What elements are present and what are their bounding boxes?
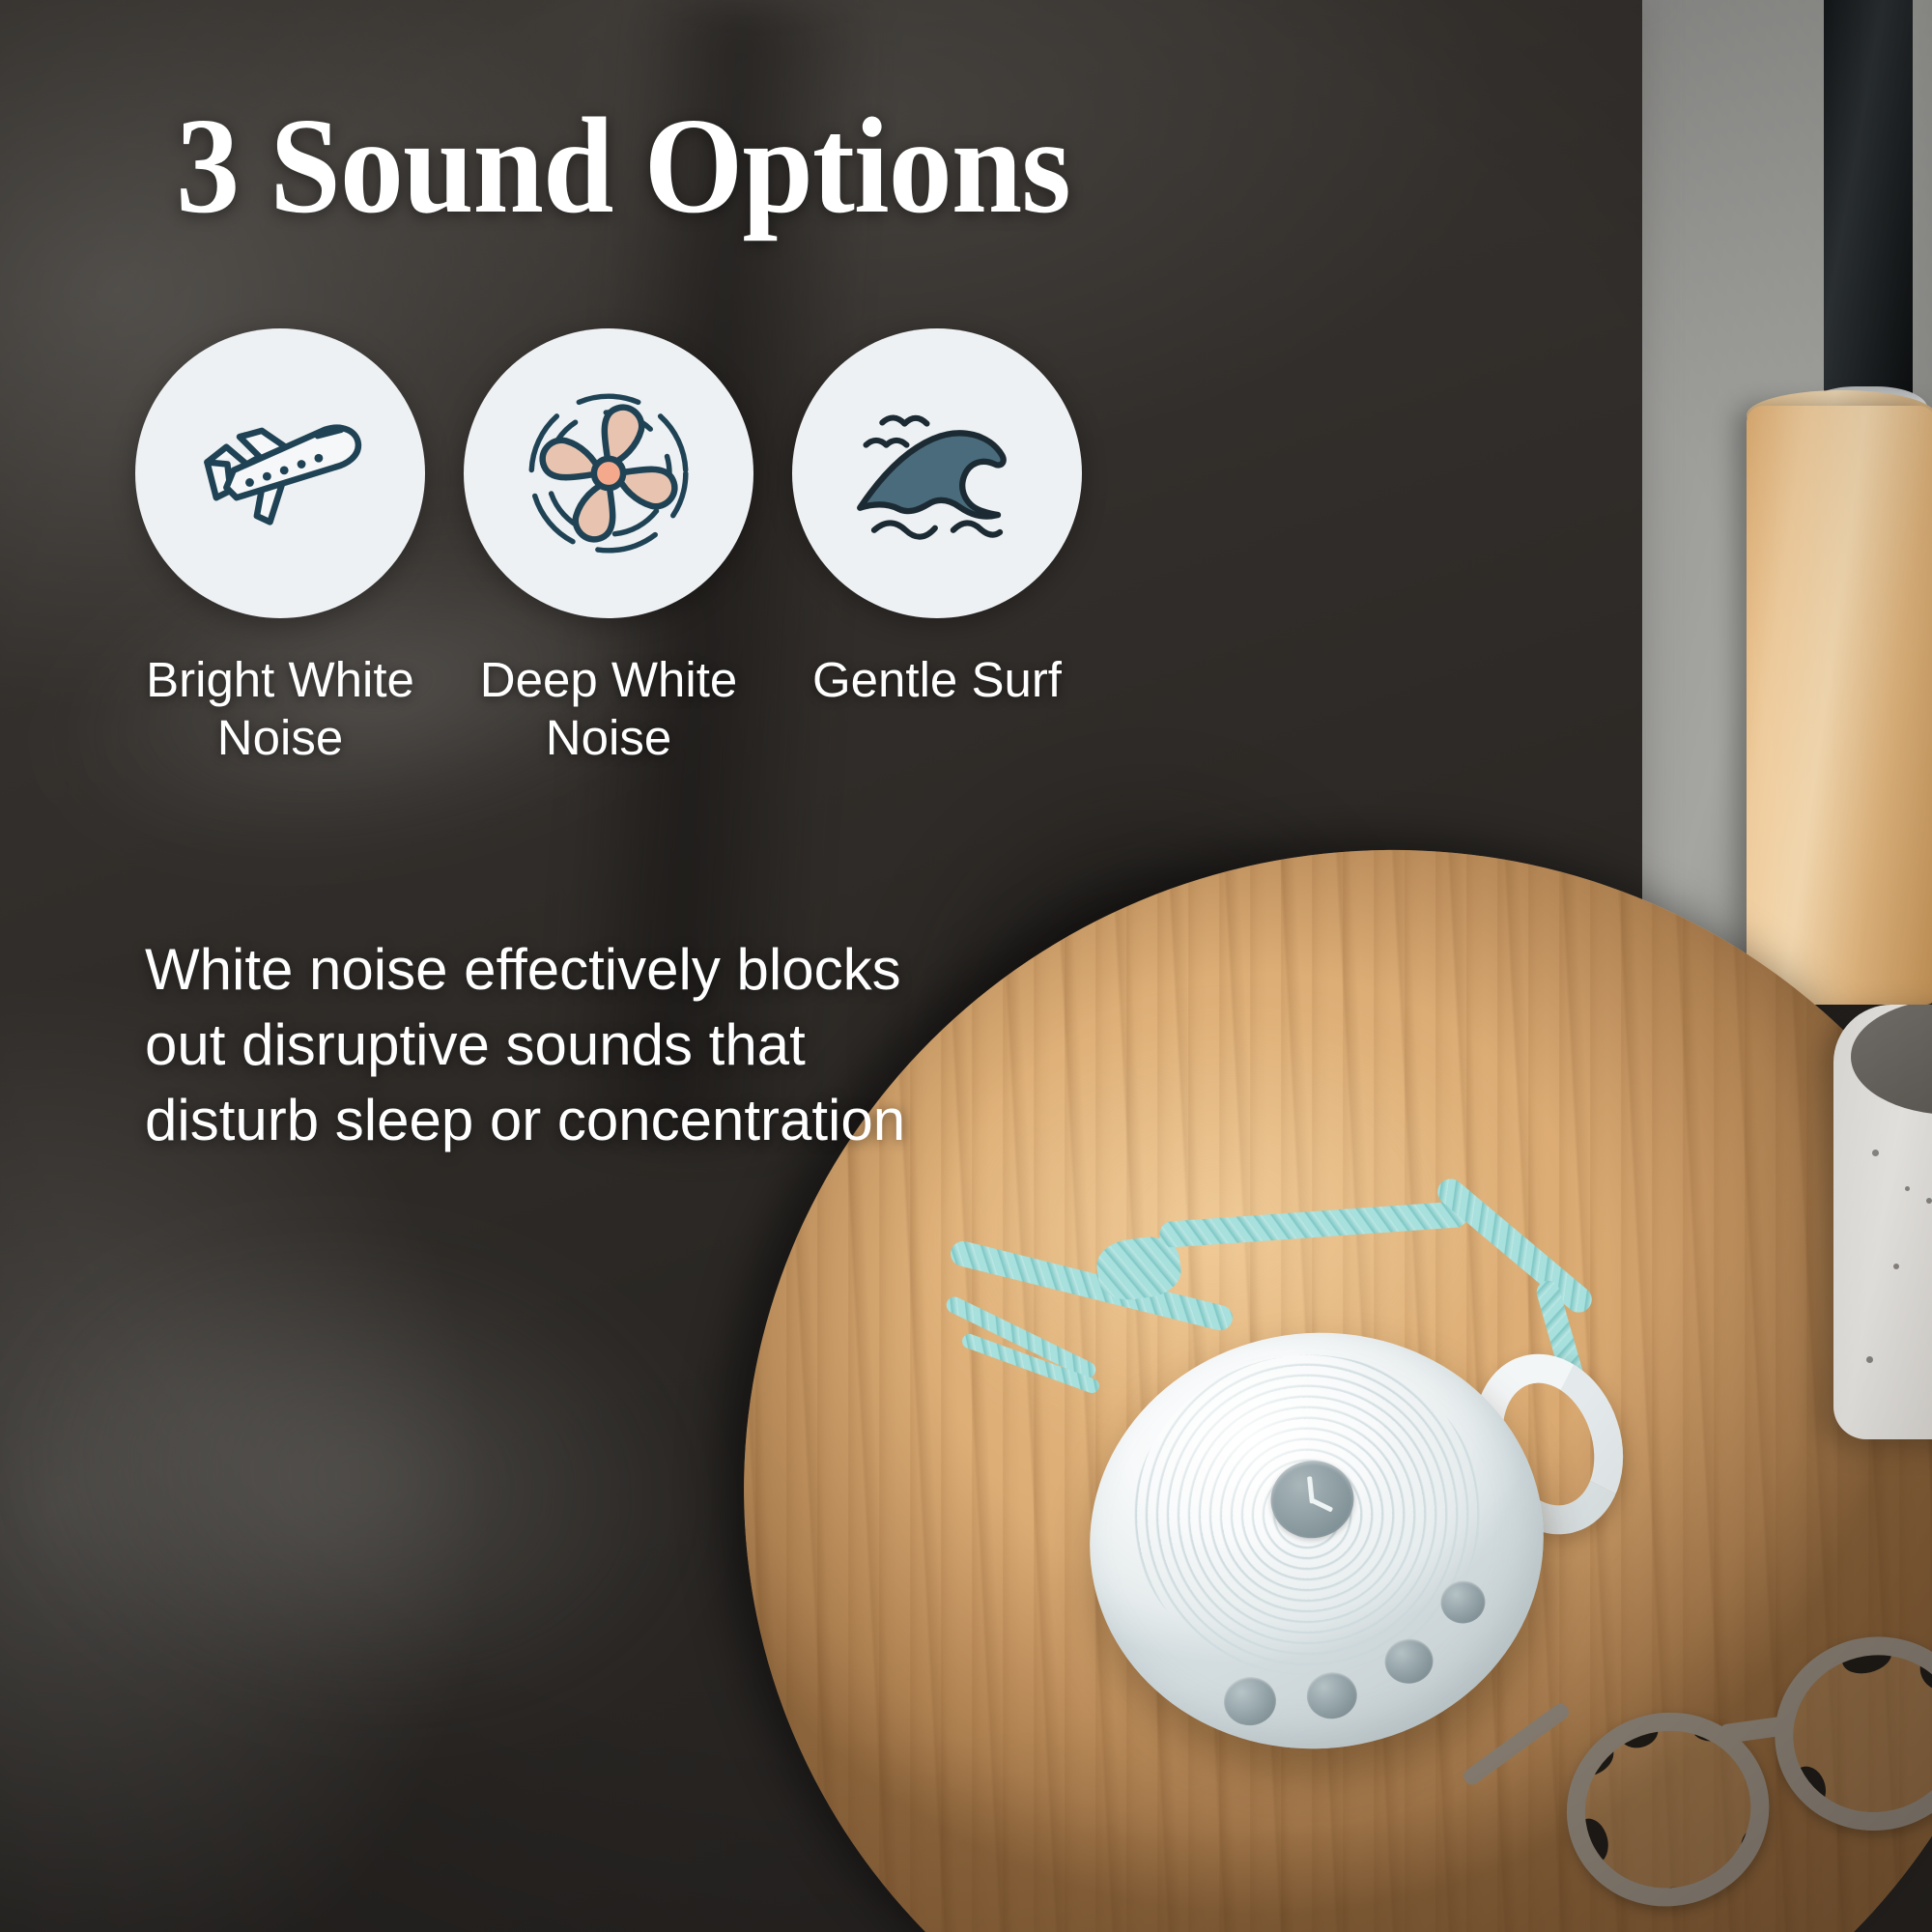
sound-option-label: Deep White Noise	[449, 651, 768, 767]
page-title: 3 Sound Options	[43, 97, 1203, 234]
fan-icon	[507, 372, 710, 575]
marketing-overlay: 3 Sound Options	[0, 0, 1932, 1932]
ocean-wave-icon	[836, 372, 1038, 575]
airplane-icon	[179, 372, 382, 575]
sound-option-deep-white-noise[interactable]: Deep White Noise	[444, 328, 773, 767]
sound-icon-badge	[464, 328, 753, 618]
sound-icon-badge	[135, 328, 425, 618]
sound-option-bright-white-noise[interactable]: Bright White Noise	[116, 328, 444, 767]
body-description: White noise effectively blocks out disru…	[145, 932, 908, 1158]
sound-option-label: Bright White Noise	[121, 651, 440, 767]
sound-icon-badge	[792, 328, 1082, 618]
sound-option-label: Gentle Surf	[778, 651, 1096, 709]
sound-option-gentle-surf[interactable]: Gentle Surf	[773, 328, 1101, 767]
sound-options-list: Bright White Noise	[116, 328, 1256, 767]
